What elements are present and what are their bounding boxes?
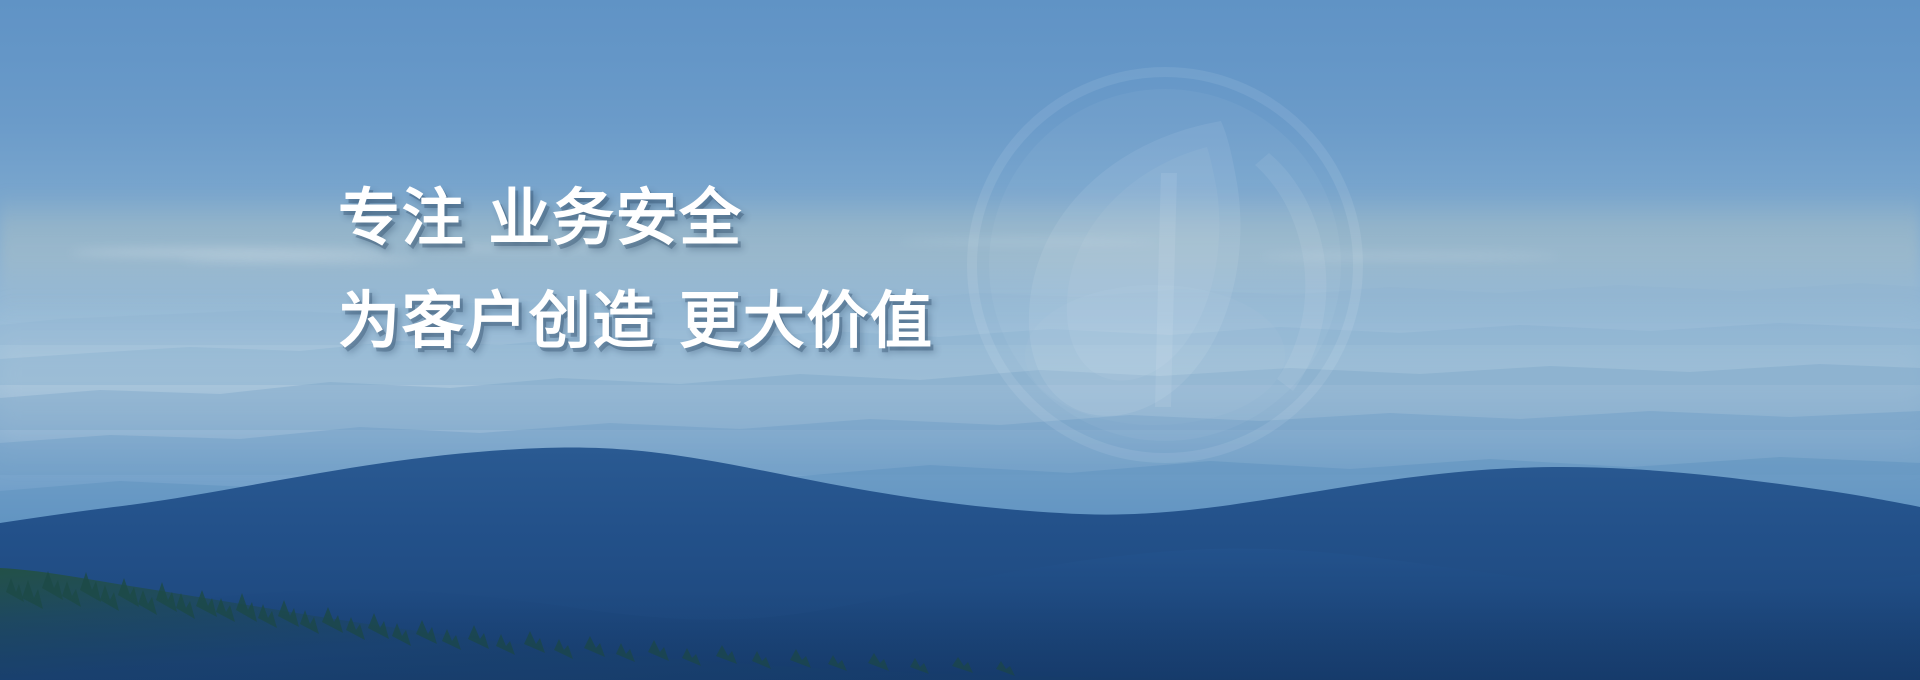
cloud-streak — [900, 238, 1160, 245]
banner-headline: 专注 业务安全 为客户创造 更大价值 — [338, 178, 934, 361]
hero-banner: 专注 业务安全 为客户创造 更大价值 — [0, 0, 1920, 680]
headline-line-2: 为客户创造 更大价值 — [338, 281, 934, 362]
headline-line-1: 专注 业务安全 — [338, 178, 934, 259]
bottom-vignette — [0, 590, 1920, 680]
